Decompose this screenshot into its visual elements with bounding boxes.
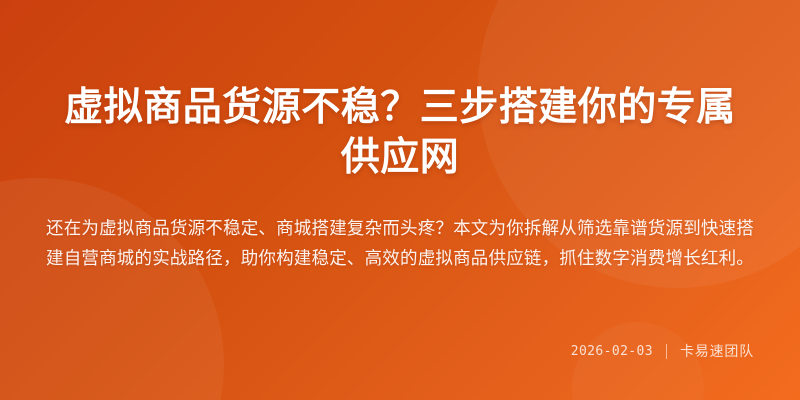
cover-subtitle: 还在为虚拟商品货源不稳定、商城搭建复杂而头疼？本文为你拆解从筛选靠谱货源到快速搭… (38, 183, 762, 273)
cover-content: 虚拟商品货源不稳？三步搭建你的专属 供应网 还在为虚拟商品货源不稳定、商城搭建复… (0, 0, 800, 400)
author-name: 卡易速团队 (680, 341, 754, 361)
publish-date: 2026-02-03 (571, 344, 653, 359)
cover-title: 虚拟商品货源不稳？三步搭建你的专属 供应网 (38, 0, 762, 183)
article-cover-banner: 虚拟商品货源不稳？三步搭建你的专属 供应网 还在为虚拟商品货源不稳定、商城搭建复… (0, 0, 800, 400)
meta-separator (666, 344, 667, 359)
cover-meta: 2026-02-03 卡易速团队 (38, 341, 762, 400)
